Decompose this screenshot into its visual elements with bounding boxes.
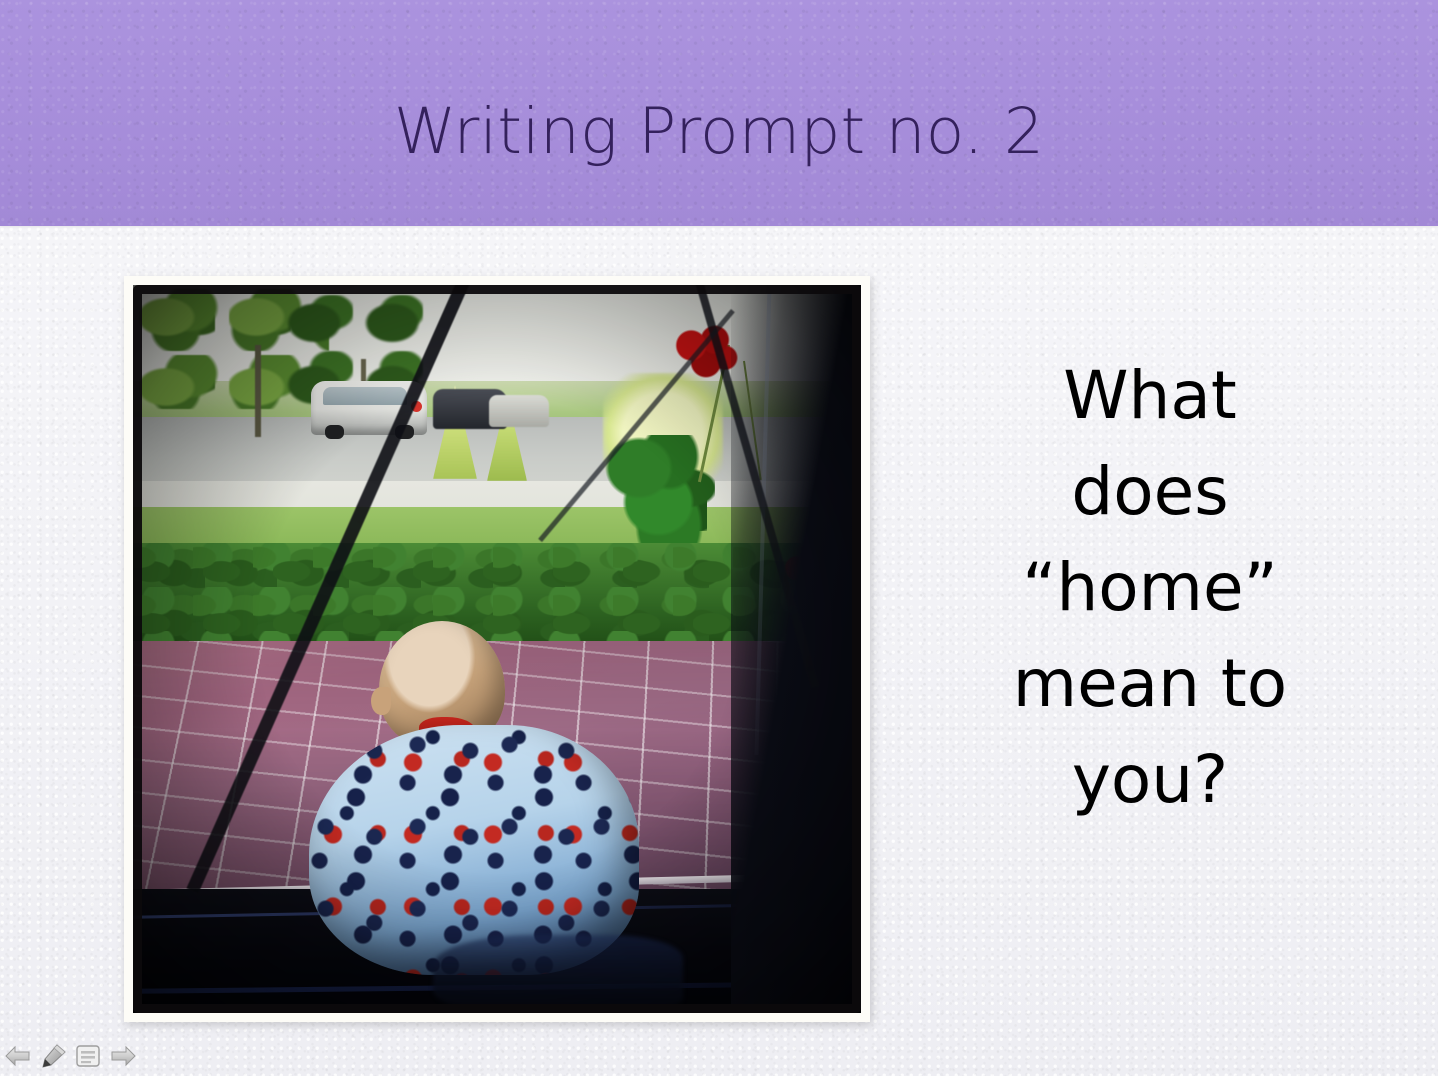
photo-image: [133, 285, 861, 1013]
presentation-slide: Writing Prompt no. 2: [0, 0, 1438, 1076]
prompt-line: you?: [930, 732, 1370, 828]
photo-silver-car: [489, 395, 549, 427]
photo-child-ear: [371, 687, 391, 715]
page-title: Writing Prompt no. 2: [0, 94, 1438, 170]
pen-icon: [39, 1043, 67, 1069]
photo-van-wheel-left: [325, 425, 344, 439]
slide-photo[interactable]: [124, 276, 870, 1022]
photo-tree-trunk-left: [255, 345, 261, 437]
slide-header-banner: Writing Prompt no. 2: [0, 0, 1438, 226]
photo-child-lower-body: [433, 935, 683, 1013]
back-arrow-icon: [4, 1044, 32, 1068]
prompt-text-block: What does “home” mean to you?: [930, 348, 1370, 828]
previous-slide-button[interactable]: [2, 1041, 34, 1071]
photo-van-window: [323, 387, 407, 405]
notes-button[interactable]: [72, 1041, 104, 1071]
next-slide-button[interactable]: [107, 1041, 139, 1071]
prompt-line: does: [930, 444, 1370, 540]
pen-tool-button[interactable]: [37, 1041, 69, 1071]
slide-toolbar: [2, 1039, 139, 1073]
prompt-line: “home”: [930, 540, 1370, 636]
forward-arrow-icon: [109, 1044, 137, 1068]
notes-icon: [74, 1043, 102, 1069]
prompt-line: What: [930, 348, 1370, 444]
photo-door-panel: [731, 285, 861, 1013]
prompt-line: mean to: [930, 636, 1370, 732]
